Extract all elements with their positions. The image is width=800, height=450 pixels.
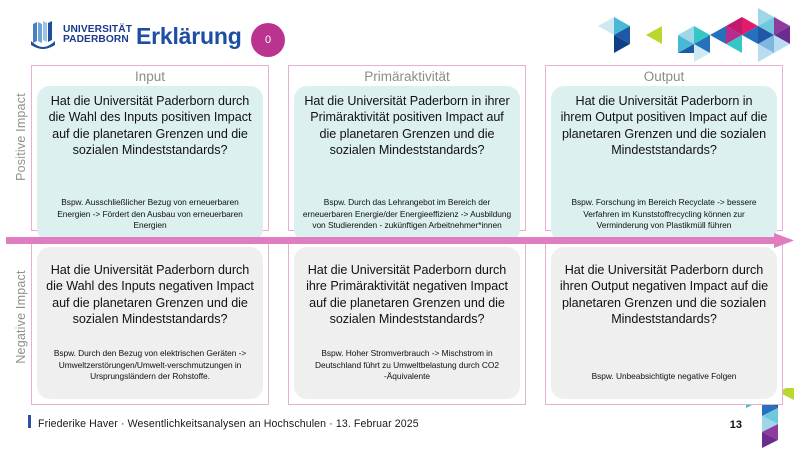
university-logo: UNIVERSITÄT PADERBORN xyxy=(30,21,132,49)
cell-input-positive[interactable]: Hat die Universität Paderborn durch die … xyxy=(37,86,263,242)
cell-question: Hat die Universität Paderborn durch ihre… xyxy=(302,262,512,328)
column-top-frame: Output Hat die Universität Paderborn in … xyxy=(545,65,783,231)
column-bottom-frame: Hat die Universität Paderborn durch ihre… xyxy=(545,241,783,405)
cell-primaeraktivitaet-positive[interactable]: Hat die Universität Paderborn in ihrer P… xyxy=(294,86,520,242)
axis-label-negative-impact: Negative Impact xyxy=(14,252,28,382)
cell-question: Hat die Universität Paderborn durch die … xyxy=(45,262,255,328)
cell-example: Bspw. Forschung im Bereich Recyclate -> … xyxy=(559,197,769,236)
column-top-frame: Primäraktivität Hat die Universität Pade… xyxy=(288,65,526,231)
cell-primaeraktivitaet-negative[interactable]: Hat die Universität Paderborn durch ihre… xyxy=(294,247,520,399)
axis-label-positive-impact: Positive Impact xyxy=(14,72,28,202)
cell-example: Bspw. Durch den Bezug von elektrischen G… xyxy=(45,348,255,393)
cell-output-negative[interactable]: Hat die Universität Paderborn durch ihre… xyxy=(551,247,777,399)
column-bottom-frame: Hat die Universität Paderborn durch ihre… xyxy=(288,241,526,405)
university-logo-text: UNIVERSITÄT PADERBORN xyxy=(63,25,132,46)
cell-input-negative[interactable]: Hat die Universität Paderborn durch die … xyxy=(37,247,263,399)
cell-question: Hat die Universität Paderborn in ihrem O… xyxy=(559,93,769,159)
column-top-frame: Input Hat die Universität Paderborn durc… xyxy=(31,65,269,231)
footer-text: Friederike Haver · Wesentlichkeitsanalys… xyxy=(38,418,419,430)
impact-divider-arrow-icon xyxy=(6,233,794,248)
cell-question: Hat die Universität Paderborn durch ihre… xyxy=(559,262,769,328)
decorative-triangles-top-right-icon xyxy=(590,2,800,64)
logo-line-2: PADERBORN xyxy=(63,35,132,45)
paderborn-book-logo-icon xyxy=(30,21,56,49)
column-header-input: Input xyxy=(37,69,263,86)
cell-example: Bspw. Hoher Stromverbrauch -> Mischstrom… xyxy=(302,348,512,393)
cell-example: Bspw. Unbeabsichtigte negative Folgen xyxy=(592,371,737,393)
column-header-primaeraktivitaet: Primäraktivität xyxy=(294,69,520,86)
slide: UNIVERSITÄT PADERBORN Erklärung 0 xyxy=(0,0,800,450)
cell-question: Hat die Universität Paderborn durch die … xyxy=(45,93,255,159)
column-header-output: Output xyxy=(551,69,777,86)
footer-accent-bar xyxy=(28,415,31,428)
status-badge-value: 0 xyxy=(265,34,271,46)
cell-question: Hat die Universität Paderborn in ihrer P… xyxy=(302,93,512,159)
page-number: 13 xyxy=(730,419,742,431)
status-badge: 0 xyxy=(251,23,285,57)
cell-output-positive[interactable]: Hat die Universität Paderborn in ihrem O… xyxy=(551,86,777,242)
cell-example: Bspw. Durch das Lehrangebot im Bereich d… xyxy=(302,197,512,236)
cell-example: Bspw. Ausschließlicher Bezug von erneuer… xyxy=(45,197,255,236)
page-title: Erklärung xyxy=(136,23,242,50)
column-bottom-frame: Hat die Universität Paderborn durch die … xyxy=(31,241,269,405)
